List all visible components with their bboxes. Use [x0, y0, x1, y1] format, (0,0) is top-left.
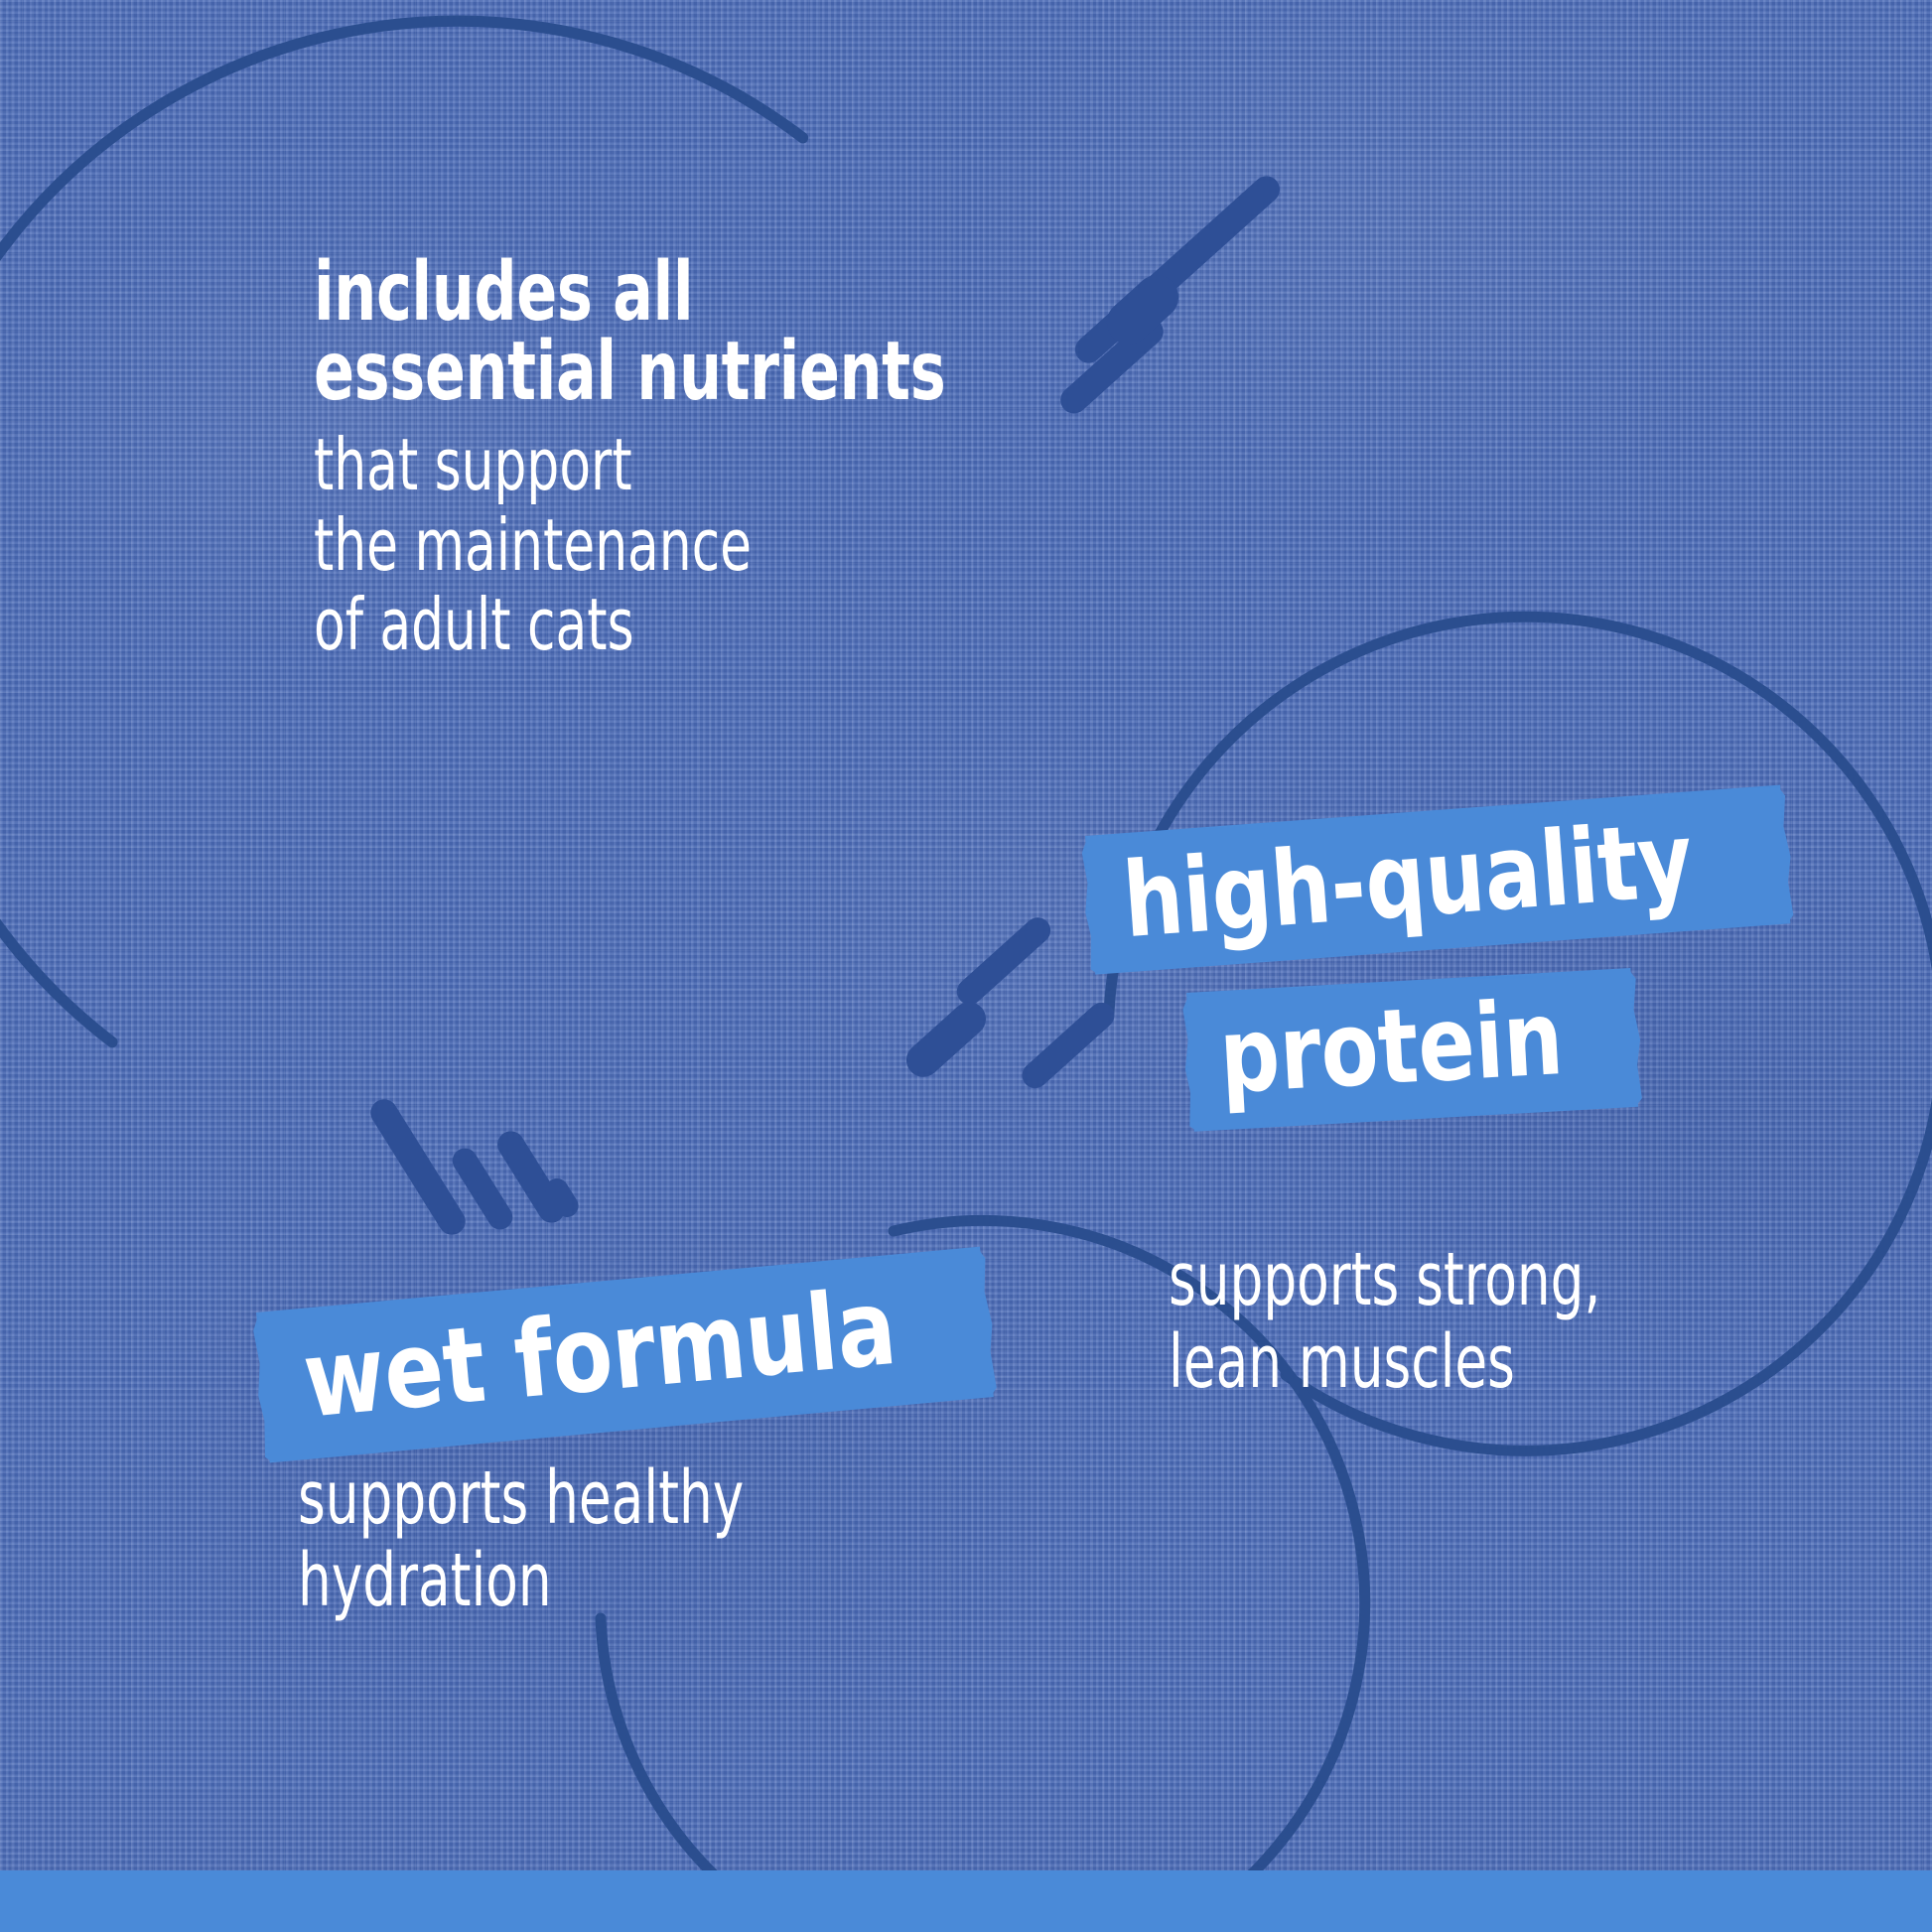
- high-quality-badge-line1-text: high-quality: [1120, 807, 1696, 952]
- protein-text-block: supports strong, lean muscles: [1169, 1239, 1709, 1404]
- sparkle-dash-5: [899, 995, 993, 1084]
- nutrients-body-line3: of adult cats: [314, 585, 930, 665]
- high-quality-badge-line1: high-quality: [1085, 785, 1790, 975]
- promo-graphic-canvas: includes all essential nutrients that su…: [0, 0, 1932, 1932]
- sparkle-dash-4: [951, 912, 1055, 1010]
- nutrients-heading-line2: essential nutrients: [314, 333, 945, 412]
- wet-formula-badge-text: wet formula: [300, 1275, 900, 1434]
- wet-body-line2: hydration: [298, 1540, 744, 1622]
- protein-body-line2: lean muscles: [1169, 1321, 1600, 1404]
- high-quality-badge-line2: protein: [1186, 968, 1638, 1132]
- high-quality-badge-line2-text: protein: [1217, 986, 1566, 1108]
- wet-formula-badge: wet formula: [256, 1247, 994, 1463]
- sparkle-dash-6: [1017, 998, 1120, 1094]
- bottom-accent-bar: [0, 1870, 1932, 1932]
- nutrients-body-line2: the maintenance: [314, 505, 930, 586]
- wet-formula-text-block: supports healthy hydration: [298, 1457, 856, 1622]
- nutrients-body-line1: that support: [314, 425, 930, 505]
- protein-body-line1: supports strong,: [1169, 1239, 1600, 1321]
- wet-body-line1: supports healthy: [298, 1457, 744, 1540]
- sparkle-dash-1: [1069, 171, 1285, 368]
- nutrients-text-block: includes all essential nutrients that su…: [314, 253, 1084, 665]
- nutrients-heading-line1: includes all: [314, 253, 945, 333]
